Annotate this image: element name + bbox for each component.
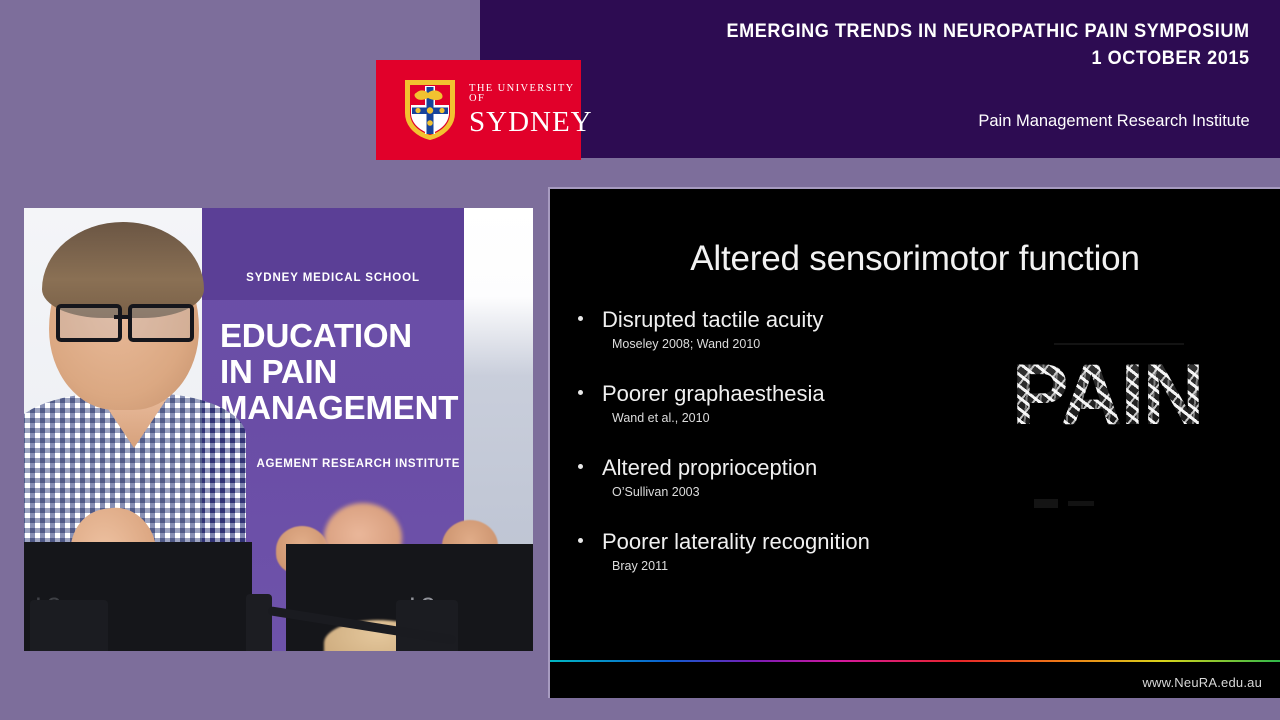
list-item: Altered proprioception O’Sullivan 2003 — [578, 455, 1048, 502]
sydney-wordmark: THE UNIVERSITY OF SYDNEY — [469, 84, 593, 137]
list-item: Poorer graphaesthesia Wand et al., 2010 — [578, 381, 1048, 428]
list-item: Poorer laterality recognition Bray 2011 — [578, 529, 1048, 576]
bullet-dot-icon — [578, 316, 583, 321]
presentation-slide-panel[interactable]: Altered sensorimotor function Disrupted … — [548, 187, 1280, 698]
banner-top-strip — [202, 208, 464, 300]
banner-sydney-medical-school-text: SYDNEY MEDICAL SCHOOL — [202, 272, 464, 284]
bullet-citation: Bray 2011 — [612, 556, 1048, 576]
pain-word-text: PAIN — [1002, 347, 1212, 443]
glasses-left-lens — [56, 304, 122, 342]
institute-name: Pain Management Research Institute — [979, 110, 1250, 132]
bullet-dot-icon — [578, 390, 583, 395]
slide-title: Altered sensorimotor function — [550, 239, 1280, 279]
logo-sydney-text: SYDNEY — [469, 108, 593, 137]
pain-word-image: PAIN — [1002, 337, 1212, 487]
glasses-right-lens — [128, 304, 194, 342]
bullet-citation: Wand et al., 2010 — [612, 408, 1048, 428]
symposium-title-line1: EMERGING TRENDS IN NEUROPATHIC PAIN SYMP… — [727, 18, 1250, 45]
slide-footer-gradient-rule — [550, 660, 1280, 662]
pain-image-top-line — [1054, 343, 1184, 345]
sydney-crest-icon — [404, 79, 456, 141]
header-title-block: EMERGING TRENDS IN NEUROPATHIC PAIN SYMP… — [699, 18, 1250, 72]
bullet-dot-icon — [578, 464, 583, 469]
header-bar: EMERGING TRENDS IN NEUROPATHIC PAIN SYMP… — [480, 0, 1280, 158]
university-of-sydney-logo: THE UNIVERSITY OF SYDNEY — [376, 60, 581, 160]
bullet-text: Altered proprioception — [602, 455, 1048, 481]
bullet-citation: O’Sullivan 2003 — [612, 482, 1048, 502]
speaker-video-panel[interactable]: SYDNEY MEDICAL SCHOOL EDUCATIONIN PAINMA… — [24, 208, 533, 651]
bullet-text: Poorer graphaesthesia — [602, 381, 1048, 407]
bullet-dot-icon — [578, 538, 583, 543]
bullet-text: Disrupted tactile acuity — [602, 307, 1048, 333]
banner-title-text: EDUCATIONIN PAINMANAGEMENT — [220, 318, 460, 426]
monitor-left-stand — [30, 600, 108, 651]
bullet-text: Poorer laterality recognition — [602, 529, 1048, 555]
symposium-date-line2: 1 OCTOBER 2015 — [727, 45, 1250, 72]
pain-image-caption-mark-1 — [1034, 499, 1058, 508]
logo-the-university-of-text: THE UNIVERSITY OF — [469, 84, 593, 105]
speaker-glasses — [56, 304, 204, 334]
pain-image-caption-mark-2 — [1068, 501, 1094, 506]
slide-bullet-list: Disrupted tactile acuity Moseley 2008; W… — [578, 307, 1048, 603]
microphone-base — [246, 594, 272, 651]
list-item: Disrupted tactile acuity Moseley 2008; W… — [578, 307, 1048, 354]
bullet-citation: Moseley 2008; Wand 2010 — [612, 334, 1048, 354]
slide-footer-url: www.NeuRA.edu.au — [1142, 675, 1262, 690]
